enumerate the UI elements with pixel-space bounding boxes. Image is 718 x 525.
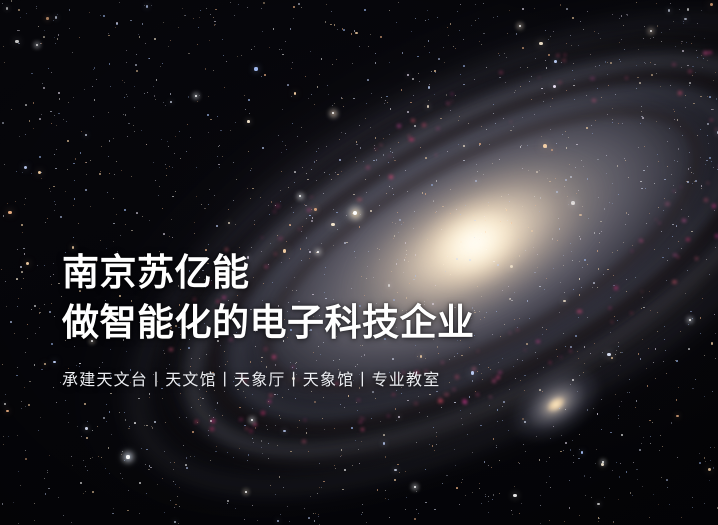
star bbox=[392, 222, 393, 223]
star bbox=[124, 82, 125, 83]
star bbox=[650, 443, 651, 444]
star bbox=[359, 125, 360, 126]
star bbox=[529, 81, 531, 83]
star bbox=[619, 59, 620, 60]
star bbox=[25, 406, 26, 407]
star bbox=[73, 237, 74, 238]
star bbox=[673, 21, 674, 22]
star bbox=[510, 130, 511, 131]
star bbox=[425, 502, 427, 504]
star bbox=[658, 161, 659, 162]
star bbox=[618, 418, 619, 419]
star bbox=[127, 510, 129, 512]
star bbox=[351, 33, 352, 34]
star bbox=[4, 62, 5, 63]
star bbox=[398, 232, 399, 233]
star bbox=[438, 58, 440, 60]
star bbox=[493, 17, 494, 18]
star bbox=[367, 79, 369, 81]
star bbox=[109, 140, 110, 141]
star bbox=[411, 31, 412, 32]
star bbox=[139, 482, 141, 484]
star bbox=[574, 79, 575, 80]
star bbox=[19, 136, 20, 137]
star bbox=[710, 460, 711, 461]
star bbox=[641, 443, 642, 444]
star bbox=[667, 166, 668, 167]
star bbox=[119, 2, 120, 3]
star bbox=[24, 204, 25, 205]
star bbox=[612, 119, 613, 120]
star bbox=[262, 453, 263, 454]
star bbox=[321, 487, 322, 488]
star bbox=[227, 500, 228, 501]
star bbox=[580, 238, 582, 240]
star bbox=[142, 23, 143, 24]
star bbox=[235, 122, 236, 123]
star bbox=[621, 39, 622, 40]
star bbox=[43, 36, 45, 38]
star bbox=[418, 73, 419, 74]
star bbox=[291, 68, 292, 69]
star bbox=[561, 62, 562, 63]
star bbox=[194, 233, 195, 234]
star bbox=[244, 519, 245, 520]
star bbox=[113, 223, 115, 225]
star bbox=[540, 197, 541, 198]
star bbox=[577, 391, 578, 392]
star bbox=[597, 503, 599, 505]
star bbox=[92, 491, 94, 493]
star bbox=[357, 410, 358, 411]
star bbox=[508, 430, 509, 431]
star bbox=[54, 316, 55, 317]
star bbox=[597, 413, 599, 415]
star bbox=[224, 391, 225, 392]
star bbox=[459, 116, 460, 117]
star bbox=[559, 228, 561, 230]
star bbox=[685, 293, 686, 294]
star bbox=[544, 93, 545, 94]
star bbox=[156, 79, 158, 81]
star bbox=[54, 210, 55, 211]
star bbox=[590, 477, 591, 478]
star bbox=[24, 166, 27, 169]
star bbox=[175, 191, 176, 192]
star bbox=[321, 243, 322, 244]
star bbox=[343, 106, 344, 107]
star bbox=[692, 497, 693, 498]
star bbox=[208, 435, 209, 436]
star bbox=[18, 523, 19, 524]
star bbox=[109, 473, 110, 474]
star bbox=[228, 209, 229, 210]
star bbox=[33, 128, 34, 129]
star bbox=[258, 469, 259, 470]
star bbox=[165, 105, 166, 106]
star bbox=[121, 170, 122, 171]
star bbox=[1, 269, 2, 270]
star bbox=[178, 27, 179, 28]
star bbox=[58, 497, 59, 498]
star bbox=[461, 482, 462, 483]
star bbox=[86, 174, 87, 175]
star bbox=[244, 95, 245, 96]
star bbox=[436, 180, 437, 181]
star bbox=[362, 504, 363, 505]
star bbox=[414, 211, 415, 212]
star bbox=[329, 174, 330, 175]
star bbox=[286, 241, 287, 242]
star bbox=[692, 507, 693, 508]
star bbox=[29, 120, 30, 121]
star bbox=[306, 173, 307, 174]
star bbox=[612, 183, 613, 184]
star bbox=[205, 208, 206, 209]
star bbox=[616, 462, 617, 463]
star bbox=[54, 115, 55, 116]
star bbox=[705, 164, 706, 165]
star bbox=[235, 224, 236, 225]
star bbox=[566, 43, 567, 44]
star bbox=[714, 210, 715, 211]
star bbox=[19, 30, 20, 31]
star bbox=[485, 496, 486, 497]
star bbox=[454, 449, 455, 450]
star bbox=[222, 156, 223, 157]
star bbox=[461, 418, 462, 419]
star bbox=[595, 463, 596, 464]
star bbox=[282, 141, 283, 142]
star bbox=[17, 306, 18, 307]
star bbox=[133, 125, 134, 126]
star bbox=[617, 165, 618, 166]
star bbox=[355, 32, 357, 34]
star bbox=[578, 45, 579, 46]
star bbox=[262, 31, 263, 32]
star bbox=[77, 426, 78, 427]
star bbox=[521, 503, 522, 504]
star bbox=[308, 451, 309, 452]
star bbox=[661, 32, 662, 33]
star bbox=[109, 411, 111, 413]
star bbox=[642, 486, 643, 487]
star bbox=[268, 443, 269, 444]
star bbox=[658, 504, 659, 505]
star bbox=[667, 141, 668, 142]
star bbox=[291, 96, 292, 97]
star bbox=[17, 435, 18, 436]
star bbox=[356, 402, 357, 403]
star bbox=[519, 463, 520, 464]
star bbox=[608, 85, 609, 86]
star bbox=[301, 7, 302, 8]
star bbox=[34, 305, 35, 306]
star bbox=[704, 503, 705, 504]
star bbox=[669, 128, 670, 129]
star bbox=[234, 15, 235, 16]
star bbox=[178, 523, 179, 524]
star bbox=[31, 309, 32, 310]
star bbox=[386, 193, 387, 194]
star bbox=[319, 463, 320, 464]
star bbox=[644, 146, 645, 147]
star bbox=[125, 224, 126, 225]
star bbox=[53, 186, 54, 187]
star bbox=[4, 164, 5, 165]
star bbox=[601, 429, 602, 430]
star bbox=[599, 65, 600, 66]
star bbox=[34, 520, 35, 521]
star bbox=[479, 483, 480, 484]
star bbox=[15, 201, 16, 202]
star bbox=[114, 174, 115, 175]
star bbox=[585, 495, 586, 496]
star bbox=[481, 126, 482, 127]
star bbox=[407, 74, 409, 76]
star bbox=[361, 514, 362, 515]
star bbox=[337, 174, 338, 175]
star bbox=[512, 514, 513, 515]
star bbox=[502, 420, 503, 421]
star bbox=[38, 171, 41, 174]
star bbox=[643, 170, 645, 172]
star bbox=[552, 238, 553, 239]
star bbox=[536, 171, 537, 172]
star bbox=[317, 493, 318, 494]
star bbox=[194, 456, 195, 457]
star bbox=[365, 118, 366, 119]
star bbox=[637, 479, 638, 480]
star bbox=[507, 220, 508, 221]
star bbox=[39, 313, 40, 314]
star bbox=[552, 98, 553, 99]
star bbox=[520, 146, 522, 148]
star bbox=[197, 44, 198, 45]
star bbox=[604, 497, 605, 498]
star bbox=[183, 445, 184, 446]
bright-star bbox=[519, 25, 521, 27]
star bbox=[425, 157, 427, 159]
star bbox=[715, 333, 716, 334]
star bbox=[460, 241, 461, 242]
star bbox=[687, 270, 688, 271]
star bbox=[210, 420, 211, 421]
star bbox=[446, 94, 447, 95]
star bbox=[571, 45, 572, 46]
star bbox=[306, 432, 308, 434]
star bbox=[649, 517, 650, 518]
star bbox=[455, 465, 456, 466]
star bbox=[289, 521, 290, 522]
star bbox=[696, 50, 697, 51]
star bbox=[483, 174, 484, 175]
star bbox=[146, 425, 148, 427]
star bbox=[90, 458, 91, 459]
star bbox=[54, 37, 55, 38]
star bbox=[636, 2, 637, 3]
star bbox=[599, 242, 600, 243]
star bbox=[120, 235, 121, 236]
star bbox=[311, 391, 312, 392]
star bbox=[277, 520, 279, 522]
star bbox=[103, 417, 104, 418]
star bbox=[93, 69, 94, 70]
star bbox=[126, 94, 127, 95]
star bbox=[107, 192, 108, 193]
star bbox=[243, 391, 244, 392]
star bbox=[650, 62, 651, 63]
star bbox=[34, 364, 36, 366]
star bbox=[393, 194, 394, 195]
star bbox=[700, 317, 701, 318]
star bbox=[434, 94, 435, 95]
star bbox=[56, 125, 57, 126]
star bbox=[683, 21, 684, 22]
bright-star bbox=[689, 319, 691, 321]
star bbox=[433, 427, 435, 429]
star bbox=[21, 288, 22, 289]
star bbox=[69, 28, 70, 29]
star bbox=[63, 515, 64, 516]
star bbox=[41, 114, 42, 115]
star bbox=[481, 44, 482, 45]
star bbox=[364, 9, 366, 11]
star bbox=[396, 420, 397, 421]
star bbox=[661, 41, 662, 42]
star bbox=[144, 93, 145, 94]
star bbox=[645, 63, 646, 64]
star bbox=[632, 245, 633, 246]
star bbox=[413, 95, 414, 96]
star bbox=[72, 465, 73, 466]
star bbox=[458, 120, 459, 121]
star bbox=[568, 137, 569, 138]
star bbox=[579, 214, 581, 216]
star bbox=[266, 425, 267, 426]
star bbox=[428, 86, 430, 88]
star bbox=[108, 156, 109, 157]
star bbox=[120, 473, 121, 474]
star bbox=[488, 496, 489, 497]
star bbox=[109, 63, 111, 65]
star bbox=[633, 462, 635, 464]
star bbox=[401, 224, 402, 225]
star bbox=[456, 209, 457, 210]
star bbox=[687, 181, 689, 183]
star bbox=[469, 396, 471, 398]
star bbox=[543, 144, 547, 148]
star bbox=[697, 57, 699, 59]
star bbox=[479, 143, 481, 145]
star bbox=[697, 135, 698, 136]
star bbox=[388, 162, 389, 163]
star bbox=[328, 94, 329, 95]
star bbox=[149, 397, 150, 398]
star bbox=[715, 247, 716, 248]
star bbox=[173, 469, 174, 470]
star bbox=[407, 191, 408, 192]
star bbox=[493, 113, 495, 115]
star bbox=[277, 445, 278, 446]
star bbox=[113, 508, 114, 509]
star bbox=[18, 9, 20, 11]
star bbox=[358, 449, 359, 450]
star bbox=[459, 30, 460, 31]
star bbox=[539, 211, 540, 212]
star bbox=[398, 416, 400, 418]
star bbox=[47, 218, 48, 219]
star bbox=[500, 221, 501, 222]
star bbox=[677, 119, 679, 121]
star bbox=[49, 311, 50, 312]
star bbox=[649, 420, 651, 422]
star bbox=[673, 109, 674, 110]
star bbox=[641, 111, 642, 112]
star bbox=[489, 405, 490, 406]
star bbox=[31, 73, 32, 74]
star bbox=[672, 224, 673, 225]
star bbox=[94, 67, 95, 68]
star bbox=[98, 456, 99, 457]
star bbox=[87, 470, 88, 471]
star bbox=[381, 97, 382, 98]
star bbox=[177, 496, 178, 497]
star bbox=[113, 241, 114, 242]
star bbox=[475, 20, 476, 21]
star bbox=[566, 147, 567, 148]
star bbox=[385, 490, 386, 491]
star bbox=[46, 17, 48, 19]
star bbox=[609, 202, 610, 203]
star bbox=[573, 63, 574, 64]
star bbox=[699, 462, 701, 464]
star bbox=[196, 196, 197, 197]
star bbox=[210, 14, 211, 15]
star bbox=[519, 513, 520, 514]
star bbox=[658, 207, 659, 208]
star bbox=[476, 164, 477, 165]
star bbox=[480, 425, 481, 426]
star bbox=[293, 18, 294, 19]
star bbox=[179, 417, 180, 418]
star bbox=[154, 95, 155, 96]
star bbox=[136, 54, 138, 56]
star bbox=[260, 197, 261, 198]
star bbox=[428, 19, 429, 20]
star bbox=[172, 196, 173, 197]
star bbox=[681, 43, 682, 44]
star bbox=[656, 73, 657, 74]
star bbox=[250, 198, 251, 199]
star bbox=[44, 304, 45, 305]
star bbox=[571, 201, 575, 205]
star bbox=[50, 191, 51, 192]
star bbox=[323, 481, 324, 482]
star bbox=[628, 177, 629, 178]
star bbox=[591, 125, 592, 126]
star bbox=[422, 192, 424, 194]
star bbox=[693, 173, 694, 174]
star bbox=[170, 40, 171, 41]
star bbox=[58, 283, 59, 284]
star bbox=[375, 62, 377, 64]
star bbox=[346, 242, 348, 244]
star bbox=[5, 281, 6, 282]
star bbox=[255, 427, 256, 428]
star bbox=[612, 14, 613, 15]
star bbox=[627, 392, 628, 393]
